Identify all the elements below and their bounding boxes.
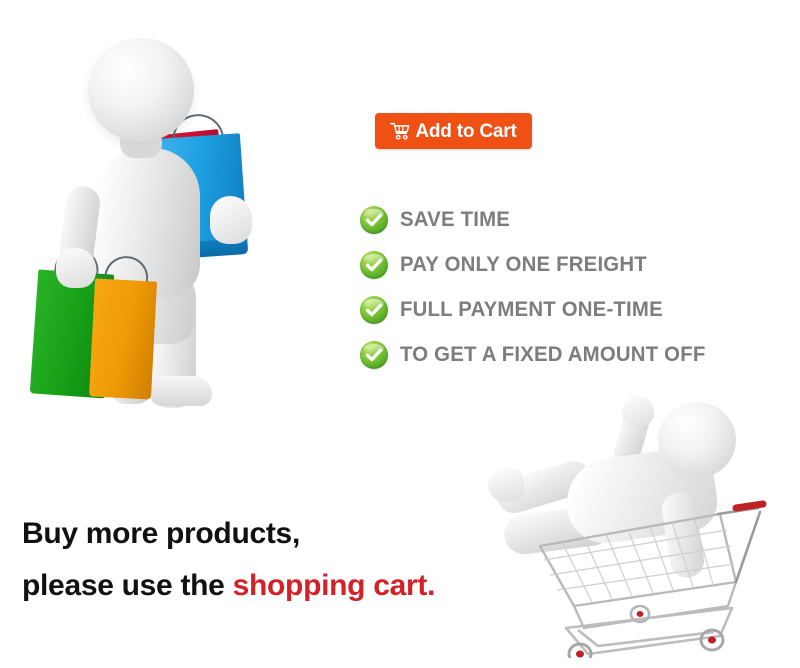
list-item-label: PAY ONLY ONE FREIGHT <box>400 253 647 277</box>
tagline-accent-text: shopping cart <box>233 569 427 602</box>
list-item-label: FULL PAYMENT ONE-TIME <box>400 298 663 322</box>
green-check-circle-icon <box>360 206 388 234</box>
promo-banner: Add to Cart SAVE TIME PAY ONLY ONE FREIG… <box>0 0 800 668</box>
figure-right-hand <box>210 196 252 244</box>
add-to-cart-label: Add to Cart <box>415 122 516 141</box>
list-item: PAY ONLY ONE FREIGHT <box>360 242 780 287</box>
cart-figure-head <box>658 402 736 478</box>
3d-figure-riding-shopping-cart-illustration <box>470 392 800 668</box>
shopping-bag-orange <box>89 278 157 399</box>
shopping-cart-icon <box>390 122 410 140</box>
cart-figure-foot <box>488 468 524 502</box>
benefits-list: SAVE TIME PAY ONLY ONE FREIGHT FULL PAYM… <box>360 197 780 377</box>
cart-handle-grip <box>736 504 763 508</box>
green-check-circle-icon <box>360 251 388 279</box>
green-check-circle-icon <box>360 296 388 324</box>
tagline-line-1: Buy more products, <box>22 508 492 560</box>
list-item: TO GET A FIXED AMOUNT OFF <box>360 332 780 377</box>
list-item-label: SAVE TIME <box>400 208 510 232</box>
figure-foot <box>150 376 212 406</box>
tagline-line-2-prefix: please use the <box>22 569 233 602</box>
tagline-line-2-suffix: . <box>427 569 435 602</box>
promo-tagline: Buy more products, please use the shoppi… <box>22 508 492 612</box>
list-item: SAVE TIME <box>360 197 780 242</box>
cart-wheels <box>569 606 723 658</box>
green-check-circle-icon <box>360 341 388 369</box>
metal-shopping-cart <box>522 478 772 658</box>
figure-head <box>88 38 194 142</box>
list-item-label: TO GET A FIXED AMOUNT OFF <box>400 343 705 367</box>
figure-left-hand <box>56 248 96 288</box>
add-to-cart-button[interactable]: Add to Cart <box>375 113 532 149</box>
3d-figure-with-shopping-bags-illustration <box>0 0 340 420</box>
tagline-line-2: please use the shopping cart. <box>22 560 492 612</box>
cart-figure-raised-hand <box>622 396 654 426</box>
bag-body-orange <box>89 278 157 399</box>
list-item: FULL PAYMENT ONE-TIME <box>360 287 780 332</box>
